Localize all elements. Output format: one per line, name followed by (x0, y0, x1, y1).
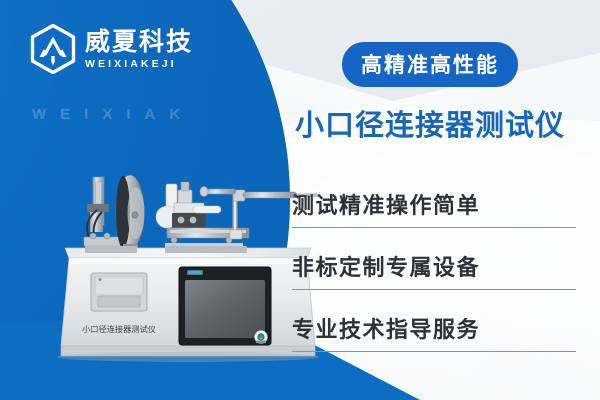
brand-watermark: WEIXIAK (32, 106, 194, 123)
brand-name-en: WEIXIAKEJI (85, 59, 193, 70)
feature-item: 测试精准操作简单 (292, 188, 576, 228)
touchscreen-icon (185, 280, 265, 338)
machine-panel-label: 小口径连接器测试仪 (82, 324, 156, 334)
feature-list: 测试精准操作简单 非标定制专属设备 专业技术指导服务 (284, 188, 576, 352)
brand-logo-text: 威夏科技 WEIXIAKEJI (85, 29, 193, 70)
feature-label: 测试精准操作简单 (292, 188, 576, 220)
feature-label: 非标定制专属设备 (292, 250, 576, 282)
brand-logo: 威夏科技 WEIXIAKEJI (30, 24, 193, 74)
feature-item: 非标定制专属设备 (292, 250, 576, 290)
feature-label: 专业技术指导服务 (292, 312, 576, 344)
recycle-cert-badge-icon (255, 331, 268, 344)
hero-text-column: 高精准高性能 小口径连接器测试仪 测试精准操作简单 非标定制专属设备 专业技术指… (284, 0, 576, 400)
product-banner: WEIXIAK 威夏科技 WEIXIAKEJI (0, 0, 600, 400)
hexagon-shield-logo-icon (30, 24, 76, 74)
page-title: 小口径连接器测试仪 (295, 102, 565, 144)
testing-machine-illustration: 小口径连接器测试仪 (57, 160, 319, 368)
product-image: 小口径连接器测试仪 (57, 160, 319, 368)
brand-name-cn: 威夏科技 (85, 29, 193, 54)
hero-badge: 高精准高性能 (342, 42, 518, 87)
feature-item: 专业技术指导服务 (292, 312, 576, 352)
